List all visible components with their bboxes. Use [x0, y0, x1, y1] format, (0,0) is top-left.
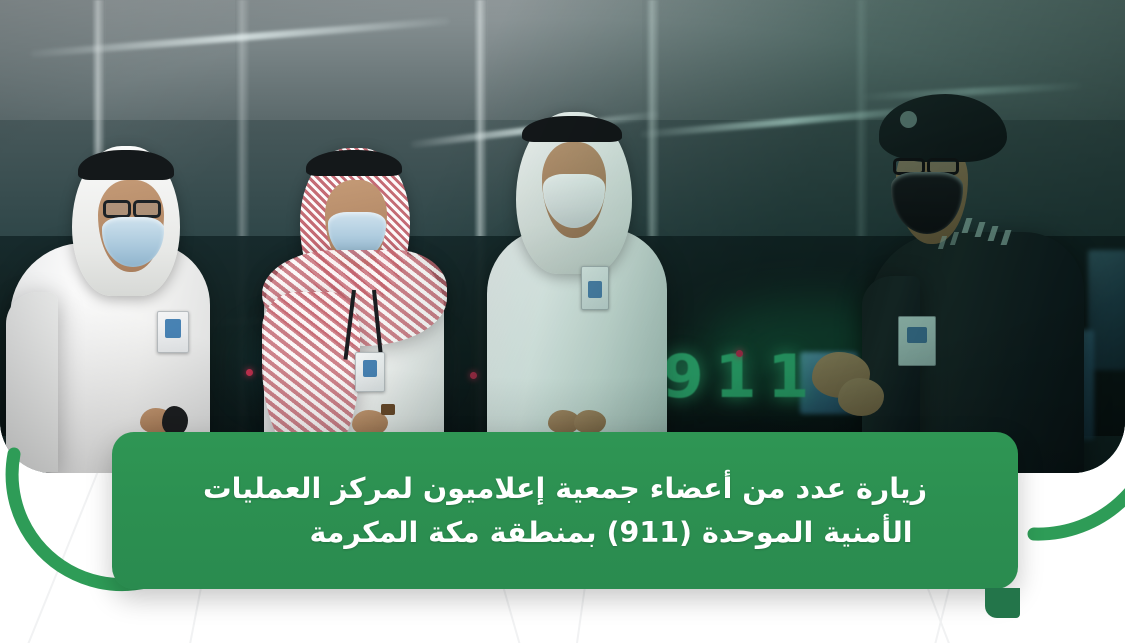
- photo-vignette: [0, 0, 1125, 473]
- caption-line-2: الأمنية الموحدة (911) بمنطقة مكة المكرمة: [146, 511, 984, 554]
- announcement-card: 911: [0, 0, 1125, 643]
- caption-text: زيارة عدد من أعضاء جمعية إعلاميون لمركز …: [146, 467, 984, 554]
- caption-banner: زيارة عدد من أعضاء جمعية إعلاميون لمركز …: [112, 432, 1018, 589]
- caption-accent-tab: [985, 588, 1020, 618]
- caption-line-1: زيارة عدد من أعضاء جمعية إعلاميون لمركز …: [146, 467, 984, 510]
- operations-center-photo: 911: [0, 0, 1125, 473]
